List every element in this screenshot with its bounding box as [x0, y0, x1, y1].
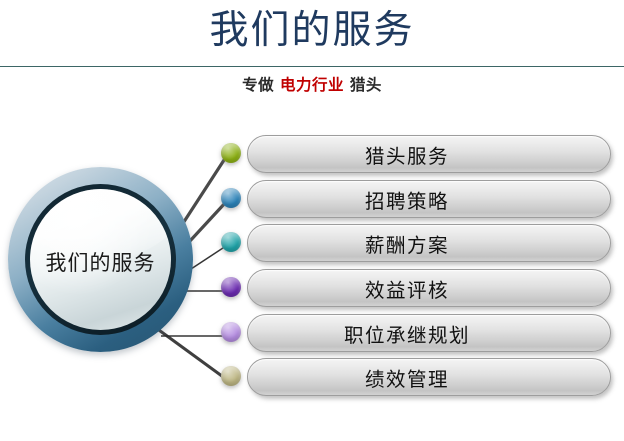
subtitle-prefix: 专做	[242, 75, 274, 94]
subtitle: 专做 电力行业 猎头	[0, 74, 624, 96]
service-button-4[interactable]: 效益评核	[247, 269, 611, 307]
header: 我们的服务 专做 电力行业 猎头	[0, 0, 624, 105]
bullet-dot-4	[221, 277, 241, 297]
service-row: 绩效管理	[0, 358, 624, 396]
service-row: 薪酬方案	[0, 224, 624, 262]
bullet-dot-1	[221, 143, 241, 163]
service-button-1[interactable]: 猎头服务	[247, 135, 611, 173]
bullet-dot-2	[221, 188, 241, 208]
service-diagram: 我们的服务 猎头服务 招聘策略 薪酬方案 效益评核 职位承继规划	[0, 105, 624, 441]
service-label-5: 职位承继规划	[344, 319, 470, 348]
page-title: 我们的服务	[0, 6, 624, 56]
service-label-4: 效益评核	[365, 274, 449, 303]
service-row: 效益评核	[0, 269, 624, 307]
service-row: 猎头服务	[0, 135, 624, 173]
bullet-dot-3	[221, 232, 241, 252]
service-label-3: 薪酬方案	[365, 229, 449, 258]
service-label-1: 猎头服务	[365, 140, 449, 169]
bullet-dot-5	[221, 322, 241, 342]
service-row: 职位承继规划	[0, 314, 624, 352]
service-button-6[interactable]: 绩效管理	[247, 358, 611, 396]
title-divider	[0, 66, 624, 67]
subtitle-suffix: 猎头	[350, 75, 382, 94]
service-label-2: 招聘策略	[365, 185, 449, 214]
service-button-2[interactable]: 招聘策略	[247, 180, 611, 218]
subtitle-accent: 电力行业	[280, 75, 344, 94]
service-row: 招聘策略	[0, 180, 624, 218]
service-button-5[interactable]: 职位承继规划	[247, 314, 611, 352]
service-button-3[interactable]: 薪酬方案	[247, 224, 611, 262]
bullet-dot-6	[221, 366, 241, 386]
service-label-6: 绩效管理	[365, 363, 449, 392]
